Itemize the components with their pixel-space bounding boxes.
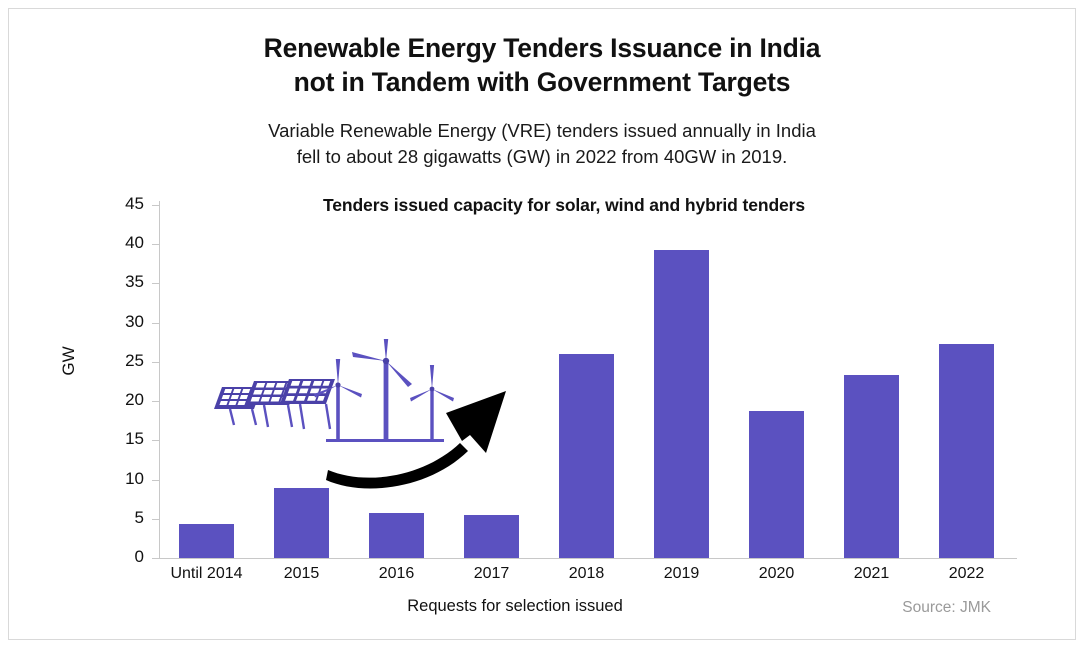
y-tick-label: 20 — [104, 390, 144, 410]
y-tick-label: 15 — [104, 429, 144, 449]
y-tick-mark — [152, 401, 159, 402]
y-tick-mark — [152, 205, 159, 206]
page-title: Renewable Energy Tenders Issuance in Ind… — [9, 31, 1075, 100]
x-tick-label: 2016 — [349, 565, 444, 583]
chart-frame: Renewable Energy Tenders Issuance in Ind… — [8, 8, 1076, 640]
y-tick-mark — [152, 440, 159, 441]
bar-2021[interactable] — [844, 375, 900, 558]
y-tick-label: 25 — [104, 351, 144, 371]
bar-2015[interactable] — [274, 488, 330, 558]
page-subtitle: Variable Renewable Energy (VRE) tenders … — [9, 118, 1075, 169]
y-tick-mark — [152, 362, 159, 363]
bar-2022[interactable] — [939, 344, 995, 558]
x-axis-line — [159, 558, 1017, 559]
x-tick-label: 2021 — [824, 565, 919, 583]
x-tick-label: 2018 — [539, 565, 634, 583]
x-tick-label: 2015 — [254, 565, 349, 583]
y-tick-label: 35 — [104, 272, 144, 292]
y-tick-mark — [152, 519, 159, 520]
subtitle-line-2: fell to about 28 gigawatts (GW) in 2022 … — [9, 144, 1075, 170]
x-tick-label: 2017 — [444, 565, 539, 583]
x-tick-label: 2022 — [919, 565, 1014, 583]
y-tick-label: 5 — [104, 508, 144, 528]
bar-2017[interactable] — [464, 515, 520, 558]
title-line-1: Renewable Energy Tenders Issuance in Ind… — [264, 33, 821, 63]
y-tick-mark — [152, 323, 159, 324]
x-tick-label: 2019 — [634, 565, 729, 583]
y-tick-mark — [152, 558, 159, 559]
y-tick-mark — [152, 283, 159, 284]
y-tick-label: 45 — [104, 194, 144, 214]
bar-2018[interactable] — [559, 354, 615, 558]
y-tick-label: 30 — [104, 312, 144, 332]
y-tick-mark — [152, 244, 159, 245]
bar-2019[interactable] — [654, 250, 710, 558]
x-tick-label: Until 2014 — [159, 565, 254, 583]
title-line-2: not in Tandem with Government Targets — [9, 65, 1075, 99]
bar-2020[interactable] — [749, 411, 805, 558]
bar-2016[interactable] — [369, 513, 425, 558]
source-note: Source: JMK — [902, 599, 991, 617]
y-tick-mark — [152, 480, 159, 481]
y-tick-label: 0 — [104, 547, 144, 567]
subtitle-line-1: Variable Renewable Energy (VRE) tenders … — [268, 120, 816, 141]
y-tick-label: 40 — [104, 233, 144, 253]
x-axis-label: Requests for selection issued — [159, 597, 871, 616]
plot-area — [159, 205, 1014, 558]
y-axis-label: GW — [59, 346, 79, 375]
bar-until-2014[interactable] — [179, 524, 235, 558]
y-tick-label: 10 — [104, 469, 144, 489]
x-tick-label: 2020 — [729, 565, 824, 583]
